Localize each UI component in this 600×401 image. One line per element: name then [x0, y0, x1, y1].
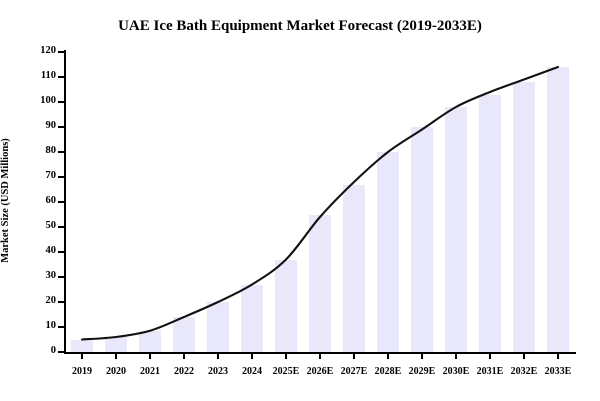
x-tick-label: 2032E [511, 366, 538, 377]
bar [241, 285, 262, 353]
x-tick-label: 2027E [341, 366, 368, 377]
x-tick-mark [81, 353, 82, 359]
bar [275, 260, 296, 353]
x-tick-mark [387, 353, 388, 359]
x-tick-label: 2033E [545, 366, 572, 377]
x-tick-label: 2030E [443, 366, 470, 377]
x-tick-label: 2031E [477, 366, 504, 377]
x-tick-label: 2024 [242, 366, 262, 377]
bar [445, 107, 466, 352]
y-tick-label: 10 [0, 321, 56, 332]
x-tick-mark [557, 353, 558, 359]
y-tick-mark [58, 151, 64, 152]
x-tick-mark [489, 353, 490, 359]
y-tick-mark [58, 351, 64, 352]
x-tick-label: 2023 [208, 366, 228, 377]
x-tick-mark [183, 353, 184, 359]
y-tick-label: 30 [0, 271, 56, 282]
y-tick-mark [58, 226, 64, 227]
x-tick-mark [319, 353, 320, 359]
bar [105, 337, 126, 352]
y-tick-label: 70 [0, 171, 56, 182]
x-tick-label: 2029E [409, 366, 436, 377]
y-tick-mark [58, 326, 64, 327]
bar [173, 317, 194, 352]
x-tick-label: 2028E [375, 366, 402, 377]
y-tick-mark [58, 101, 64, 102]
bar [377, 152, 398, 352]
x-tick-label: 2025E [273, 366, 300, 377]
x-tick-mark [115, 353, 116, 359]
x-tick-label: 2026E [307, 366, 334, 377]
chart-title: UAE Ice Bath Equipment Market Forecast (… [0, 18, 600, 35]
x-tick-mark [251, 353, 252, 359]
y-tick-label: 50 [0, 221, 56, 232]
y-tick-label: 110 [0, 71, 56, 82]
y-tick-label: 60 [0, 196, 56, 207]
y-tick-mark [58, 201, 64, 202]
x-tick-label: 2022 [174, 366, 194, 377]
x-tick-mark [353, 353, 354, 359]
bar [71, 340, 92, 353]
bar [309, 215, 330, 353]
y-tick-label: 120 [0, 46, 56, 57]
y-tick-mark [58, 176, 64, 177]
bar [139, 331, 160, 352]
y-tick-label: 90 [0, 121, 56, 132]
y-tick-mark [58, 126, 64, 127]
y-tick-label: 80 [0, 146, 56, 157]
y-tick-label: 0 [0, 346, 56, 357]
x-tick-mark [217, 353, 218, 359]
y-tick-label: 100 [0, 96, 56, 107]
y-tick-mark [58, 51, 64, 52]
x-tick-mark [149, 353, 150, 359]
y-tick-label: 20 [0, 296, 56, 307]
y-tick-label: 40 [0, 246, 56, 257]
bar [411, 127, 432, 352]
x-tick-mark [455, 353, 456, 359]
y-tick-mark [58, 301, 64, 302]
x-tick-mark [421, 353, 422, 359]
x-tick-mark [523, 353, 524, 359]
bar-series [65, 52, 575, 352]
x-tick-label: 2020 [106, 366, 126, 377]
chart-figure: UAE Ice Bath Equipment Market Forecast (… [0, 0, 600, 401]
y-tick-mark [58, 251, 64, 252]
bar [547, 67, 568, 352]
bar [513, 82, 534, 352]
x-tick-label: 2019 [72, 366, 92, 377]
x-tick-mark [285, 353, 286, 359]
y-tick-mark [58, 276, 64, 277]
y-tick-mark [58, 76, 64, 77]
bar [207, 302, 228, 352]
bar [343, 185, 364, 353]
bar [479, 95, 500, 353]
x-tick-label: 2021 [140, 366, 160, 377]
